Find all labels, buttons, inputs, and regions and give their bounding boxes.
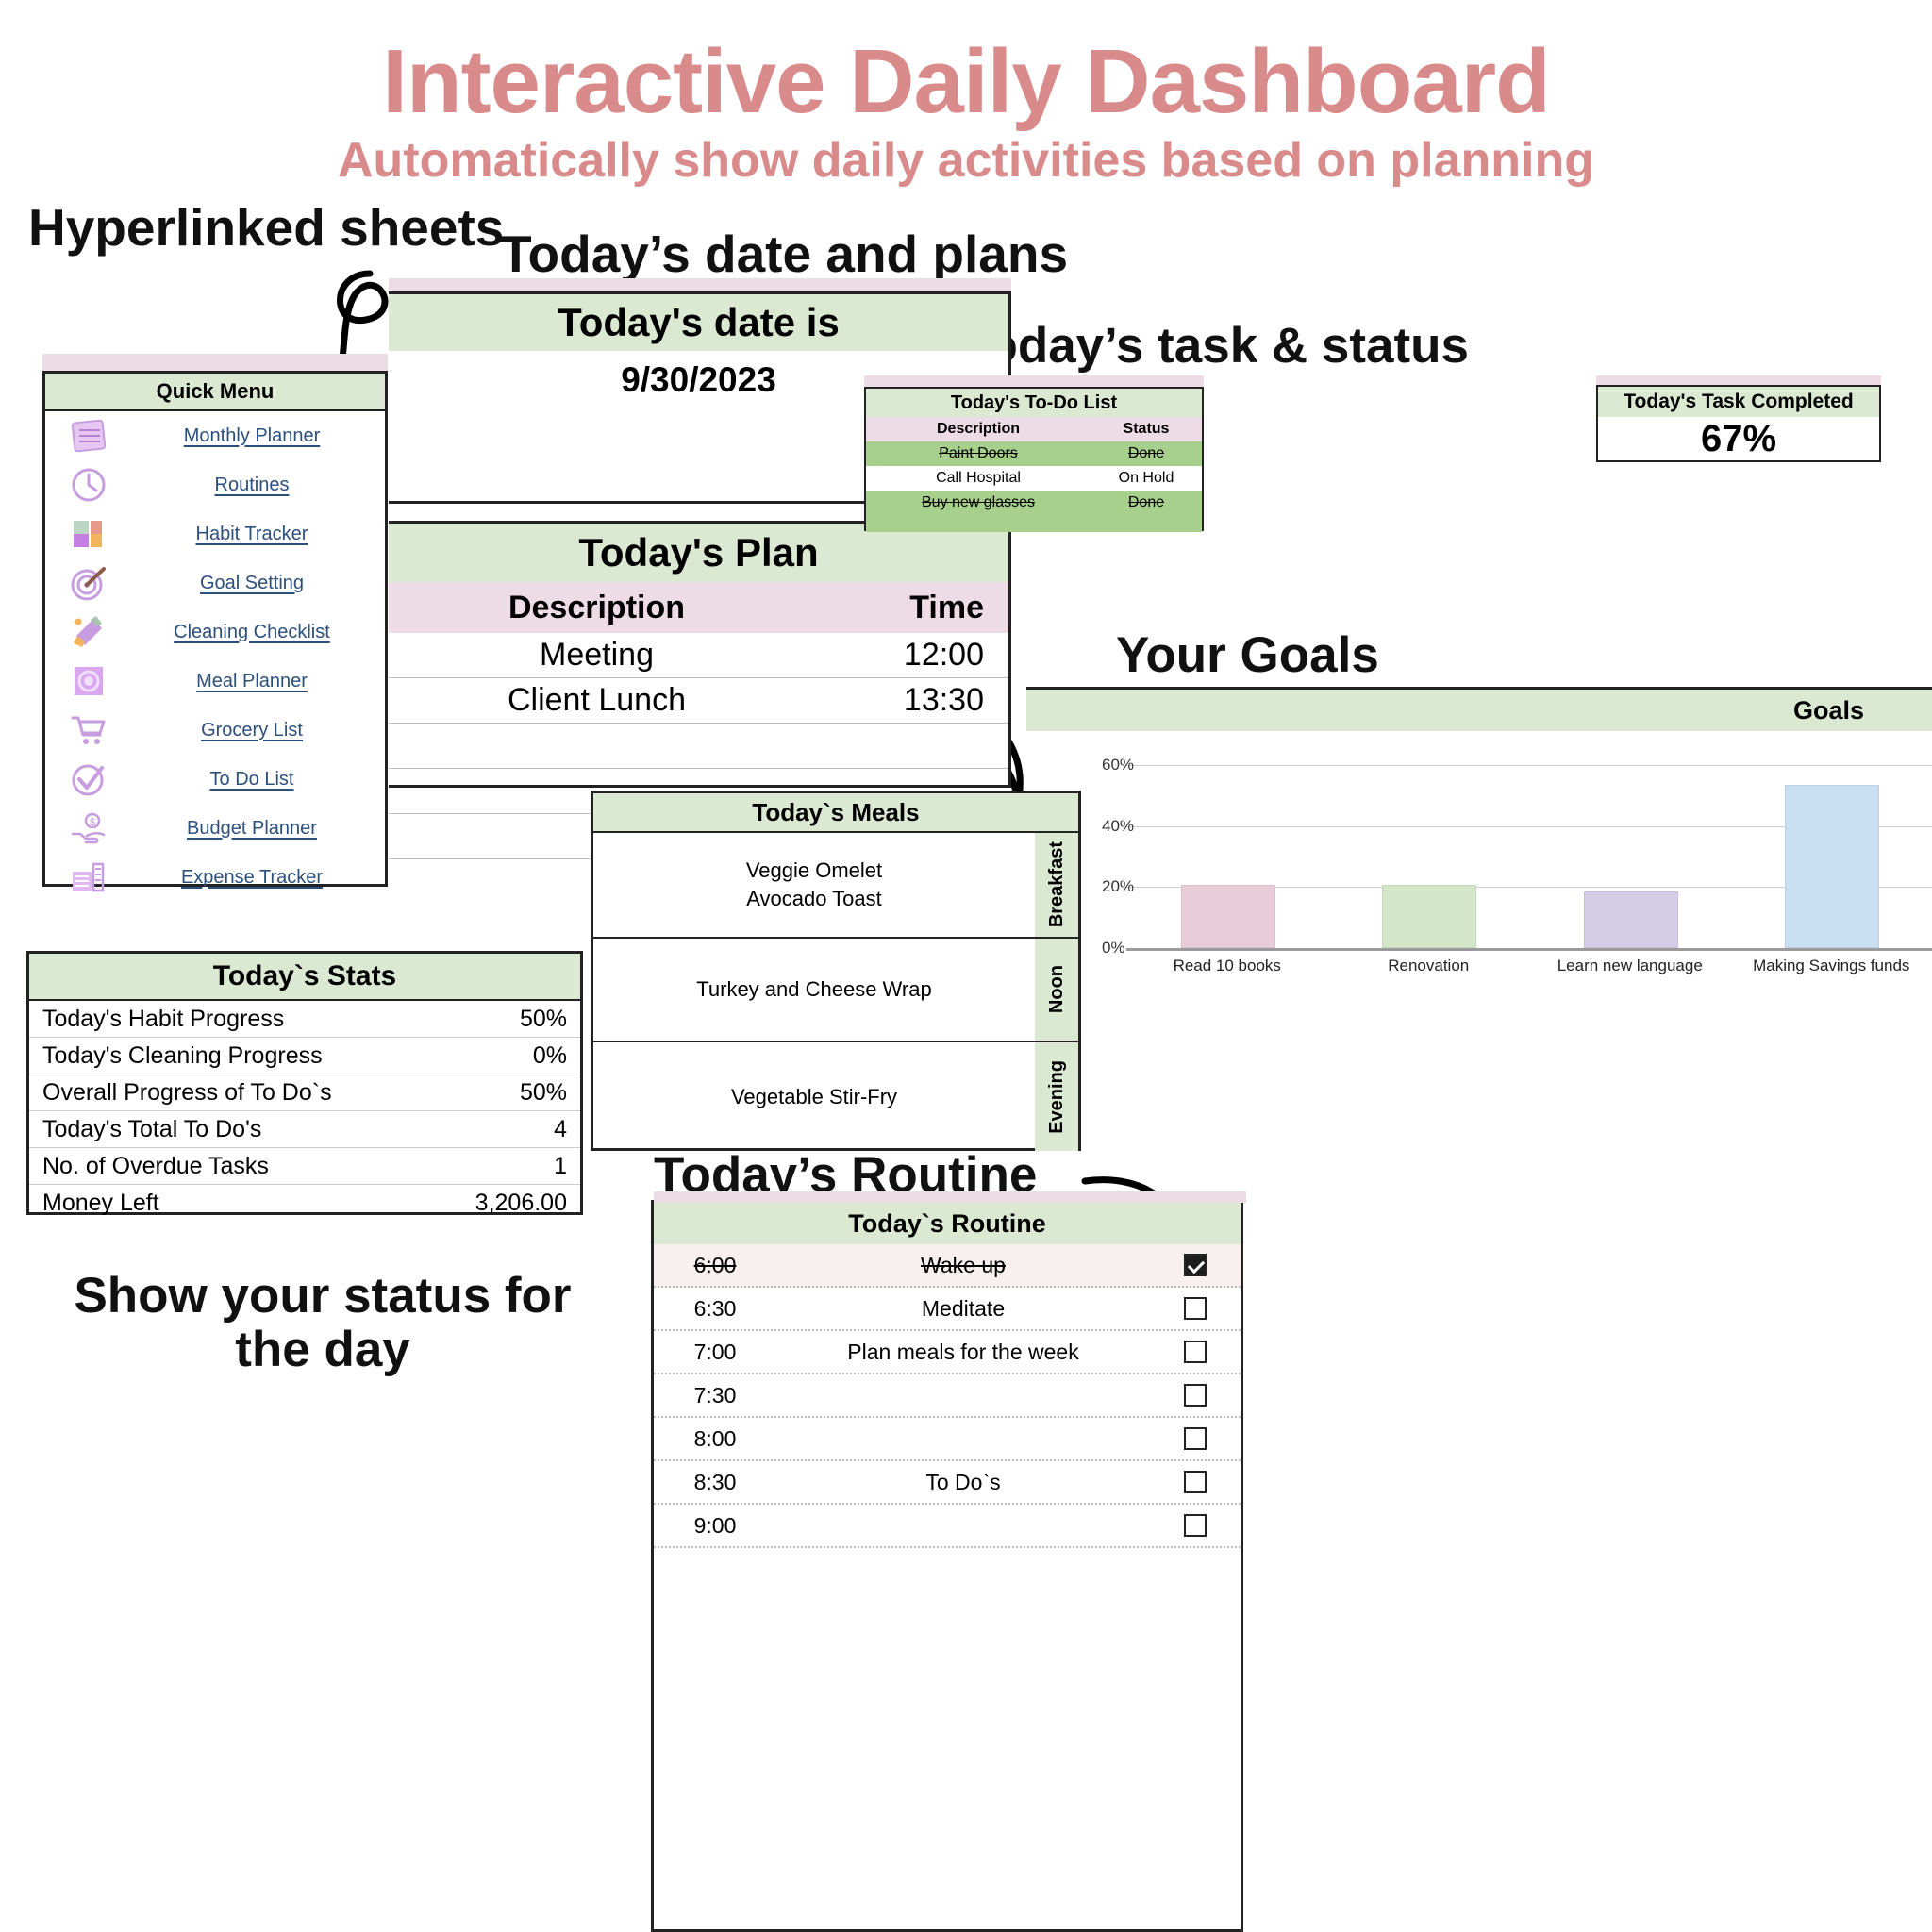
chart-x-label: Read 10 books: [1126, 957, 1328, 975]
table-row: 7:30: [654, 1374, 1241, 1418]
table-row: 6:30 Meditate: [654, 1288, 1241, 1331]
sidebar-item-label: Cleaning Checklist: [132, 622, 385, 643]
table-row: No. of Overdue Tasks 1: [29, 1148, 580, 1185]
meal-section-noon: Turkey and Cheese Wrap Noon: [593, 939, 1078, 1042]
goals-chart-title: Goals: [1793, 696, 1864, 725]
sidebar-item-label: Goal Setting: [132, 573, 385, 594]
stats-panel-title: Today`s Stats: [29, 954, 580, 1001]
routine-checkbox[interactable]: [1150, 1514, 1241, 1537]
calendar-icon: [45, 415, 132, 457]
routine-time: 6:00: [654, 1253, 776, 1278]
chart-gridline: [1126, 765, 1932, 766]
routine-time: 7:00: [654, 1340, 776, 1365]
stat-label: Overall Progress of To Do`s: [29, 1079, 520, 1107]
puzzle-icon: [45, 513, 132, 555]
page-subtitle: Automatically show daily activities base…: [0, 132, 1932, 189]
plan-panel-title: Today's Plan: [578, 530, 818, 575]
quick-menu-panel: Quick Menu Monthly Planner Routines Habi…: [42, 354, 388, 887]
table-row-empty: [389, 724, 1008, 769]
date-panel-pink-strip: [389, 278, 1011, 291]
callout-show-status: Show your status for the day: [30, 1269, 615, 1376]
meal-item: Vegetable Stir-Fry: [731, 1083, 897, 1111]
sidebar-item-goal-setting[interactable]: Goal Setting: [45, 558, 385, 608]
routine-activity: To Do`s: [776, 1470, 1150, 1495]
routine-time: 9:00: [654, 1513, 776, 1539]
callout-todays-date-and-plans: Today’s date and plans: [500, 226, 1068, 282]
clock-icon: [45, 464, 132, 506]
table-row: 6:00 Wake up: [654, 1244, 1241, 1288]
meal-item: Veggie Omelet: [746, 857, 882, 885]
check-circle-icon: [45, 758, 132, 800]
callout-todays-task-and-status: Today’s task & status: [960, 319, 1469, 373]
meal-items: Veggie Omelet Avocado Toast: [593, 833, 1035, 937]
todo-description: Call Hospital: [866, 470, 1091, 487]
checkbox-icon[interactable]: [1184, 1297, 1207, 1320]
meal-tab-label: Breakfast: [1035, 833, 1078, 937]
sidebar-item-label: Grocery List: [132, 720, 385, 741]
goals-chart-plot: 0%20%40%60%Read 10 booksRenovationLearn …: [1026, 731, 1932, 1022]
todo-row-filler: [866, 515, 1202, 532]
plan-col-time: Time: [805, 590, 1008, 626]
chart-x-label: Making Savings funds: [1731, 957, 1932, 975]
sidebar-item-meal-planner[interactable]: Meal Planner: [45, 657, 385, 706]
meal-item: Turkey and Cheese Wrap: [696, 975, 931, 1004]
hand-coin-icon: $: [45, 808, 132, 849]
status-badge: Done: [1091, 445, 1202, 462]
table-row: Today's Cleaning Progress 0%: [29, 1038, 580, 1074]
svg-text:$: $: [90, 817, 95, 828]
stat-label: Today's Habit Progress: [29, 1006, 520, 1033]
chart-x-label: Learn new language: [1529, 957, 1731, 975]
sidebar-item-label: Meal Planner: [132, 671, 385, 692]
checkbox-icon[interactable]: [1184, 1341, 1207, 1363]
routine-panel: Today`s Routine 6:00 Wake up 6:30 Medita…: [651, 1200, 1243, 1932]
sidebar-item-label: Expense Tracker: [132, 867, 385, 889]
table-row: 8:00: [654, 1418, 1241, 1461]
meal-tab-label: Evening: [1035, 1042, 1078, 1151]
sidebar-item-expense-tracker[interactable]: Expense Tracker: [45, 853, 385, 902]
todo-col-description: Description: [866, 421, 1091, 438]
task-completed-value: 67%: [1598, 417, 1879, 460]
checkbox-icon[interactable]: [1184, 1514, 1207, 1537]
chart-bar: [1382, 885, 1476, 948]
target-icon: [45, 562, 132, 604]
sidebar-item-label: Monthly Planner: [132, 425, 385, 447]
todo-pink-strip: [864, 375, 1204, 387]
todo-panel-title: Today's To-Do List: [866, 389, 1202, 417]
table-row: Meeting 12:00: [389, 633, 1008, 678]
stat-label: Money Left: [29, 1190, 475, 1217]
routine-checkbox[interactable]: [1150, 1384, 1241, 1407]
checkbox-icon[interactable]: [1184, 1471, 1207, 1493]
checkbox-icon[interactable]: [1184, 1384, 1207, 1407]
routine-time: 6:30: [654, 1296, 776, 1322]
routine-checkbox[interactable]: [1150, 1254, 1241, 1276]
table-row: Today's Habit Progress 50%: [29, 1001, 580, 1038]
stat-value: 4: [554, 1116, 580, 1143]
routine-checkbox[interactable]: [1150, 1341, 1241, 1363]
sidebar-item-routines[interactable]: Routines: [45, 460, 385, 509]
routine-time: 8:30: [654, 1470, 776, 1495]
goals-chart-header: Goals: [1026, 690, 1932, 731]
meal-section-evening: Vegetable Stir-Fry Evening: [593, 1042, 1078, 1151]
sidebar-item-budget-planner[interactable]: $ Budget Planner: [45, 804, 385, 853]
todo-col-status: Status: [1091, 421, 1202, 438]
plan-column-headers: Description Time: [389, 582, 1008, 633]
sidebar-item-label: To Do List: [132, 769, 385, 791]
routine-checkbox[interactable]: [1150, 1297, 1241, 1320]
sidebar-item-grocery-list[interactable]: Grocery List: [45, 706, 385, 755]
meal-section-breakfast: Veggie Omelet Avocado Toast Breakfast: [593, 833, 1078, 939]
shopping-cart-icon: [45, 709, 132, 751]
chart-y-tick: 20%: [1102, 877, 1134, 896]
todo-list-panel: Today's To-Do List Description Status Pa…: [864, 375, 1204, 531]
chart-bar: [1584, 891, 1678, 948]
table-row: Buy new glasses Done: [866, 491, 1202, 515]
meals-panel-title: Today`s Meals: [593, 793, 1078, 833]
goals-chart-panel: Goals 0%20%40%60%Read 10 booksRenovation…: [1026, 687, 1932, 1019]
meal-items: Vegetable Stir-Fry: [593, 1042, 1035, 1151]
todo-column-headers: Description Status: [866, 417, 1202, 441]
routine-time: 7:30: [654, 1383, 776, 1408]
date-and-plan-panel: Today's date is 9/30/2023 Today's Plan D…: [389, 278, 1011, 788]
chart-y-tick: 0%: [1102, 939, 1125, 958]
plan-row-description: Meeting: [389, 637, 805, 674]
checkbox-icon[interactable]: [1184, 1427, 1207, 1450]
plan-row-time: 13:30: [805, 682, 1008, 719]
date-panel-header: Today's date is: [389, 294, 1008, 351]
todo-description: Paint Doors: [866, 445, 1091, 462]
stat-label: No. of Overdue Tasks: [29, 1153, 554, 1180]
routine-checkbox[interactable]: [1150, 1427, 1241, 1450]
stat-value: 1: [554, 1153, 580, 1180]
table-row: 9:00: [654, 1505, 1241, 1548]
stat-value: 0%: [533, 1042, 580, 1070]
routine-activity: Plan meals for the week: [776, 1340, 1150, 1365]
routine-pink-strip: [654, 1191, 1246, 1203]
chart-y-tick: 40%: [1102, 817, 1134, 836]
stat-value: 50%: [520, 1079, 580, 1107]
date-panel-title: Today's date is: [558, 300, 840, 345]
meal-tab-label: Noon: [1035, 939, 1078, 1041]
todo-description: Buy new glasses: [866, 494, 1091, 511]
status-badge: Done: [1091, 494, 1202, 511]
chart-y-tick: 60%: [1102, 756, 1134, 774]
callout-your-goals: Your Goals: [1116, 628, 1379, 682]
task-completed-panel: Today's Task Completed 67%: [1596, 375, 1881, 462]
table-row: Client Lunch 13:30: [389, 678, 1008, 724]
meals-panel: Today`s Meals Veggie Omelet Avocado Toas…: [591, 791, 1081, 1151]
chart-bar: [1785, 785, 1879, 948]
table-row: Money Left 3,206.00: [29, 1185, 580, 1221]
sidebar-item-habit-tracker[interactable]: Habit Tracker: [45, 509, 385, 558]
quick-menu-header: Quick Menu: [45, 374, 385, 411]
chart-x-label: Renovation: [1328, 957, 1530, 975]
stats-panel: Today`s Stats Today's Habit Progress 50%…: [26, 951, 583, 1215]
sidebar-item-label: Habit Tracker: [132, 524, 385, 545]
plate-icon: [45, 660, 132, 702]
callout-hyperlinked-sheets: Hyperlinked sheets: [28, 200, 504, 256]
plan-col-description: Description: [389, 590, 805, 626]
checkbox-checked-icon[interactable]: [1184, 1254, 1207, 1276]
stat-value: 50%: [520, 1006, 580, 1033]
chart-axis-line: [1126, 948, 1932, 951]
table-row: Call Hospital On Hold: [866, 466, 1202, 491]
quick-menu-pink-strip: [42, 354, 388, 371]
plan-row-description: Client Lunch: [389, 682, 805, 719]
status-badge: On Hold: [1091, 470, 1202, 487]
routine-activity: Wake up: [776, 1253, 1150, 1278]
task-completed-pink-strip: [1596, 375, 1881, 385]
chart-bar: [1181, 885, 1275, 948]
receipt-icon: [45, 857, 132, 898]
page-title: Interactive Daily Dashboard: [0, 34, 1932, 130]
stat-label: Today's Total To Do's: [29, 1116, 554, 1143]
sidebar-item-monthly-planner[interactable]: Monthly Planner: [45, 411, 385, 460]
meal-item: Avocado Toast: [746, 885, 882, 913]
quick-menu-title: Quick Menu: [157, 379, 275, 404]
table-row: 7:00 Plan meals for the week: [654, 1331, 1241, 1374]
routine-activity: Meditate: [776, 1296, 1150, 1322]
sidebar-item-to-do-list[interactable]: To Do List: [45, 755, 385, 804]
stat-value: 3,206.00: [475, 1190, 580, 1217]
sidebar-item-label: Routines: [132, 475, 385, 496]
routine-panel-title: Today`s Routine: [654, 1203, 1241, 1244]
routine-time: 8:00: [654, 1426, 776, 1452]
table-row: Overall Progress of To Do`s 50%: [29, 1074, 580, 1111]
task-completed-title: Today's Task Completed: [1598, 387, 1879, 417]
cleaning-spray-icon: [45, 611, 132, 653]
routine-checkbox[interactable]: [1150, 1471, 1241, 1493]
sidebar-item-cleaning-checklist[interactable]: Cleaning Checklist: [45, 608, 385, 657]
stat-label: Today's Cleaning Progress: [29, 1042, 533, 1070]
table-row: 8:30 To Do`s: [654, 1461, 1241, 1505]
sidebar-item-label: Budget Planner: [132, 818, 385, 840]
plan-row-time: 12:00: [805, 637, 1008, 674]
meal-items: Turkey and Cheese Wrap: [593, 939, 1035, 1041]
table-row: Today's Total To Do's 4: [29, 1111, 580, 1148]
table-row: Paint Doors Done: [866, 441, 1202, 466]
